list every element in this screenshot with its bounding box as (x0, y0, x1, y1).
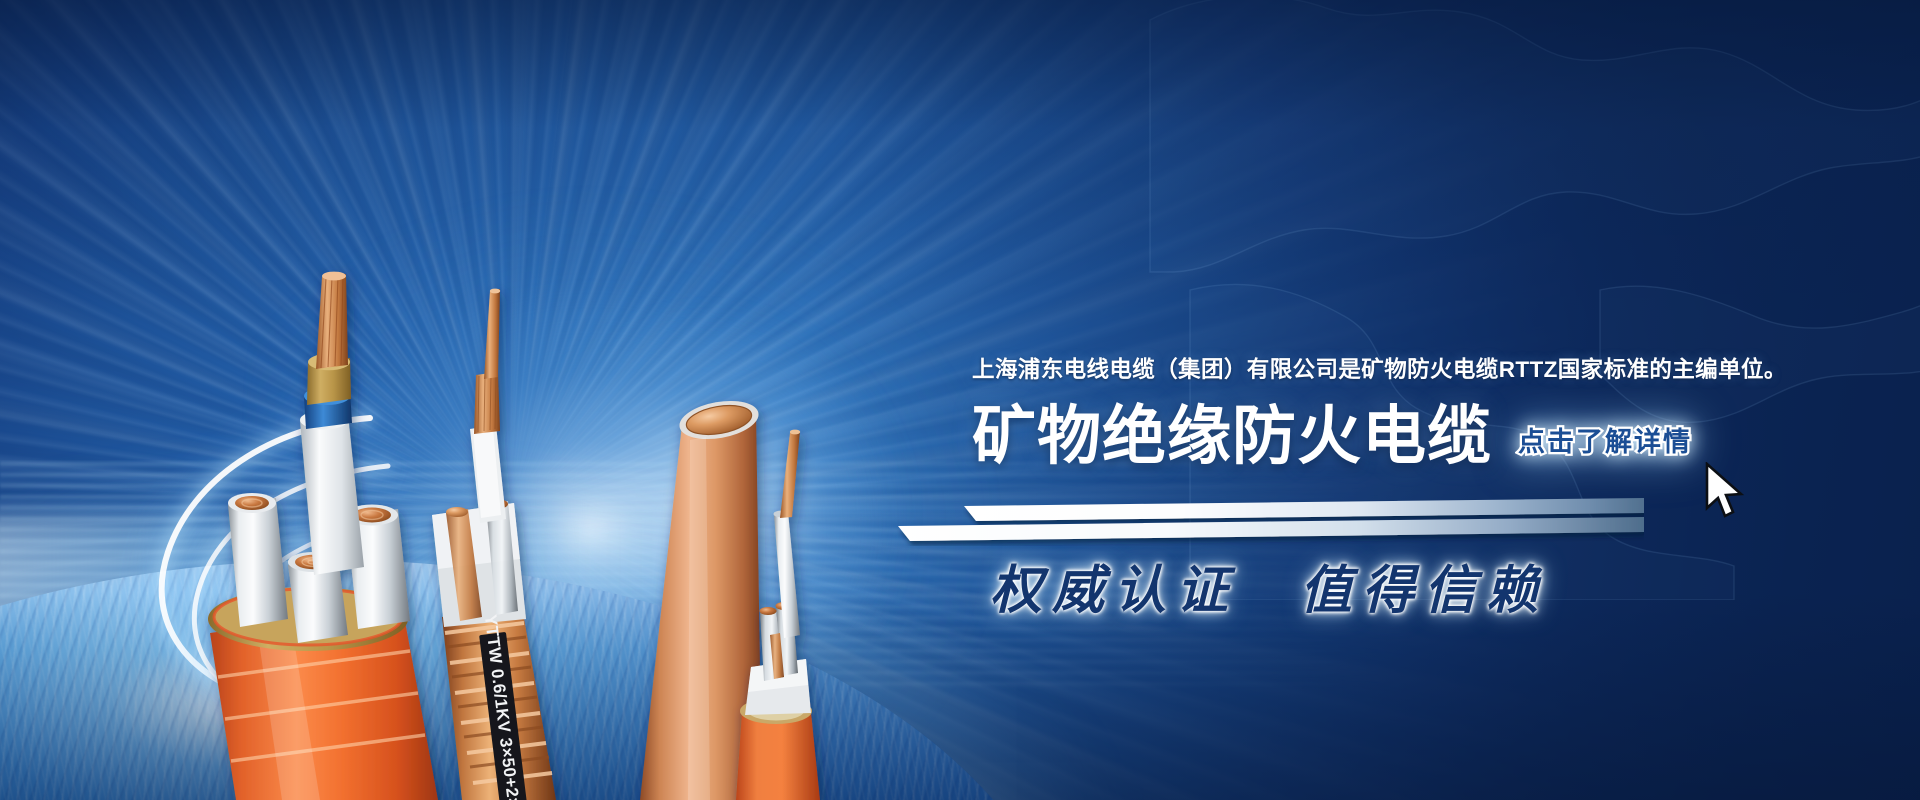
banner-headline: 矿物绝缘防火电缆 (972, 404, 1492, 468)
cable-orange-multicore (208, 272, 438, 800)
learn-more-button[interactable]: 点击了解详情 (1514, 418, 1696, 461)
banner-subtitle: 上海浦东电线电缆（集团）有限公司是矿物防火电缆RTTZ国家标准的主编单位。 (972, 352, 1852, 384)
cable-copper-armoured: YTTW 0.6/1KV 3×50+2×25 (432, 289, 556, 800)
hero-banner: YTTW 0.6/1KV 3×50+2×25 (0, 0, 1920, 800)
banner-text-block: 上海浦东电线电缆（集团）有限公司是矿物防火电缆RTTZ国家标准的主编单位。 矿物… (972, 352, 1852, 468)
headline-row: 矿物绝缘防火电缆 点击了解详情 (972, 404, 1852, 468)
banner-tagline: 权威认证 值得信赖 (990, 548, 1548, 623)
angled-divider-bars-icon (884, 498, 1644, 546)
cable-product-group: YTTW 0.6/1KV 3×50+2×25 (170, 215, 890, 800)
